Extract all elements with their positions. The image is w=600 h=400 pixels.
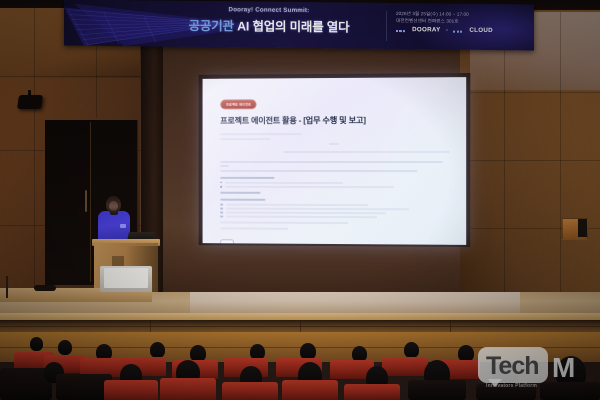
watermark-primary-text: Tech — [486, 352, 539, 381]
door-handle — [85, 190, 87, 212]
wall-panel-line — [560, 12, 561, 307]
audience-seat — [160, 378, 216, 400]
banner-title-rest: AI 협업의 미래를 열다 — [234, 19, 350, 34]
audience-seat — [344, 384, 400, 400]
stage-floor-reflection — [190, 292, 520, 314]
banner-title: 공공기관 AI 협업의 미래를 열다 — [159, 15, 379, 36]
watermark-secondary-text: M — [552, 352, 574, 384]
logo-separator-icon: × — [446, 28, 449, 35]
watermark-tagline: Innovators Platform — [486, 383, 537, 389]
wall-panel-line — [0, 76, 150, 77]
cloud-dots-icon — [453, 30, 462, 32]
audience-seat — [222, 382, 278, 400]
banner-logo-row: DOORAY × CLOUD — [396, 26, 493, 36]
banner-divider — [386, 11, 387, 41]
slide-badge: 프로젝트 에이전트 — [220, 99, 257, 109]
wall-control-panel-face — [578, 219, 587, 237]
table-equipment — [34, 285, 56, 291]
audience-head — [150, 342, 165, 358]
wall-panel-line — [34, 8, 35, 293]
banner-info-block: 2026년 3월 25일(수) 14:00 ~ 17:00 대전컨벤션센터 컨퍼… — [396, 11, 493, 36]
mic-stand — [6, 276, 8, 298]
wall-panel-line — [452, 92, 600, 93]
audience-head — [58, 340, 72, 355]
cloud-logo-text: CLOUD — [469, 27, 493, 36]
audience-head — [30, 337, 43, 351]
banner-venue: 대전컨벤션센터 컨퍼런스 301호 — [396, 18, 493, 26]
event-banner: Dooray! Connect Summit: 공공기관 AI 협업의 미래를 … — [64, 0, 534, 50]
audience-head — [404, 342, 419, 358]
audience-seat — [408, 380, 466, 400]
speaker-face — [109, 201, 118, 211]
wall-panel-line — [504, 12, 505, 307]
stage-light-fixture — [17, 95, 43, 109]
audience-seat — [382, 357, 428, 376]
photo-scene: Dooray! Connect Summit: 공공기관 AI 협업의 미래를 … — [0, 0, 600, 400]
projection-screen: 프로젝트 에이전트 프로젝트 에이전트 활용 - [업무 수행 및 보고] — [203, 77, 467, 245]
slide-content: 프로젝트 에이전트 프로젝트 에이전트 활용 - [업무 수행 및 보고] — [203, 77, 467, 245]
slide-body — [220, 133, 450, 245]
stage-monitor-screen — [104, 268, 148, 288]
dooray-logo-text: DOORAY — [412, 26, 440, 35]
door-split — [90, 122, 91, 282]
banner-title-block: Dooray! Connect Summit: 공공기관 AI 협업의 미래를 … — [159, 6, 379, 36]
wall-panel-line — [452, 160, 600, 161]
speaker-name-badge — [120, 224, 126, 228]
watermark: Tech M Innovators Platform — [478, 345, 596, 395]
dooray-dots-icon — [396, 30, 405, 32]
banner-title-highlight: 공공기관 — [189, 19, 234, 33]
audience-seat — [104, 380, 158, 400]
banner-subtitle: Dooray! Connect Summit: — [159, 6, 379, 15]
slide-title: 프로젝트 에이전트 활용 - [업무 수행 및 보고] — [220, 114, 450, 127]
audience-seat — [282, 380, 338, 400]
